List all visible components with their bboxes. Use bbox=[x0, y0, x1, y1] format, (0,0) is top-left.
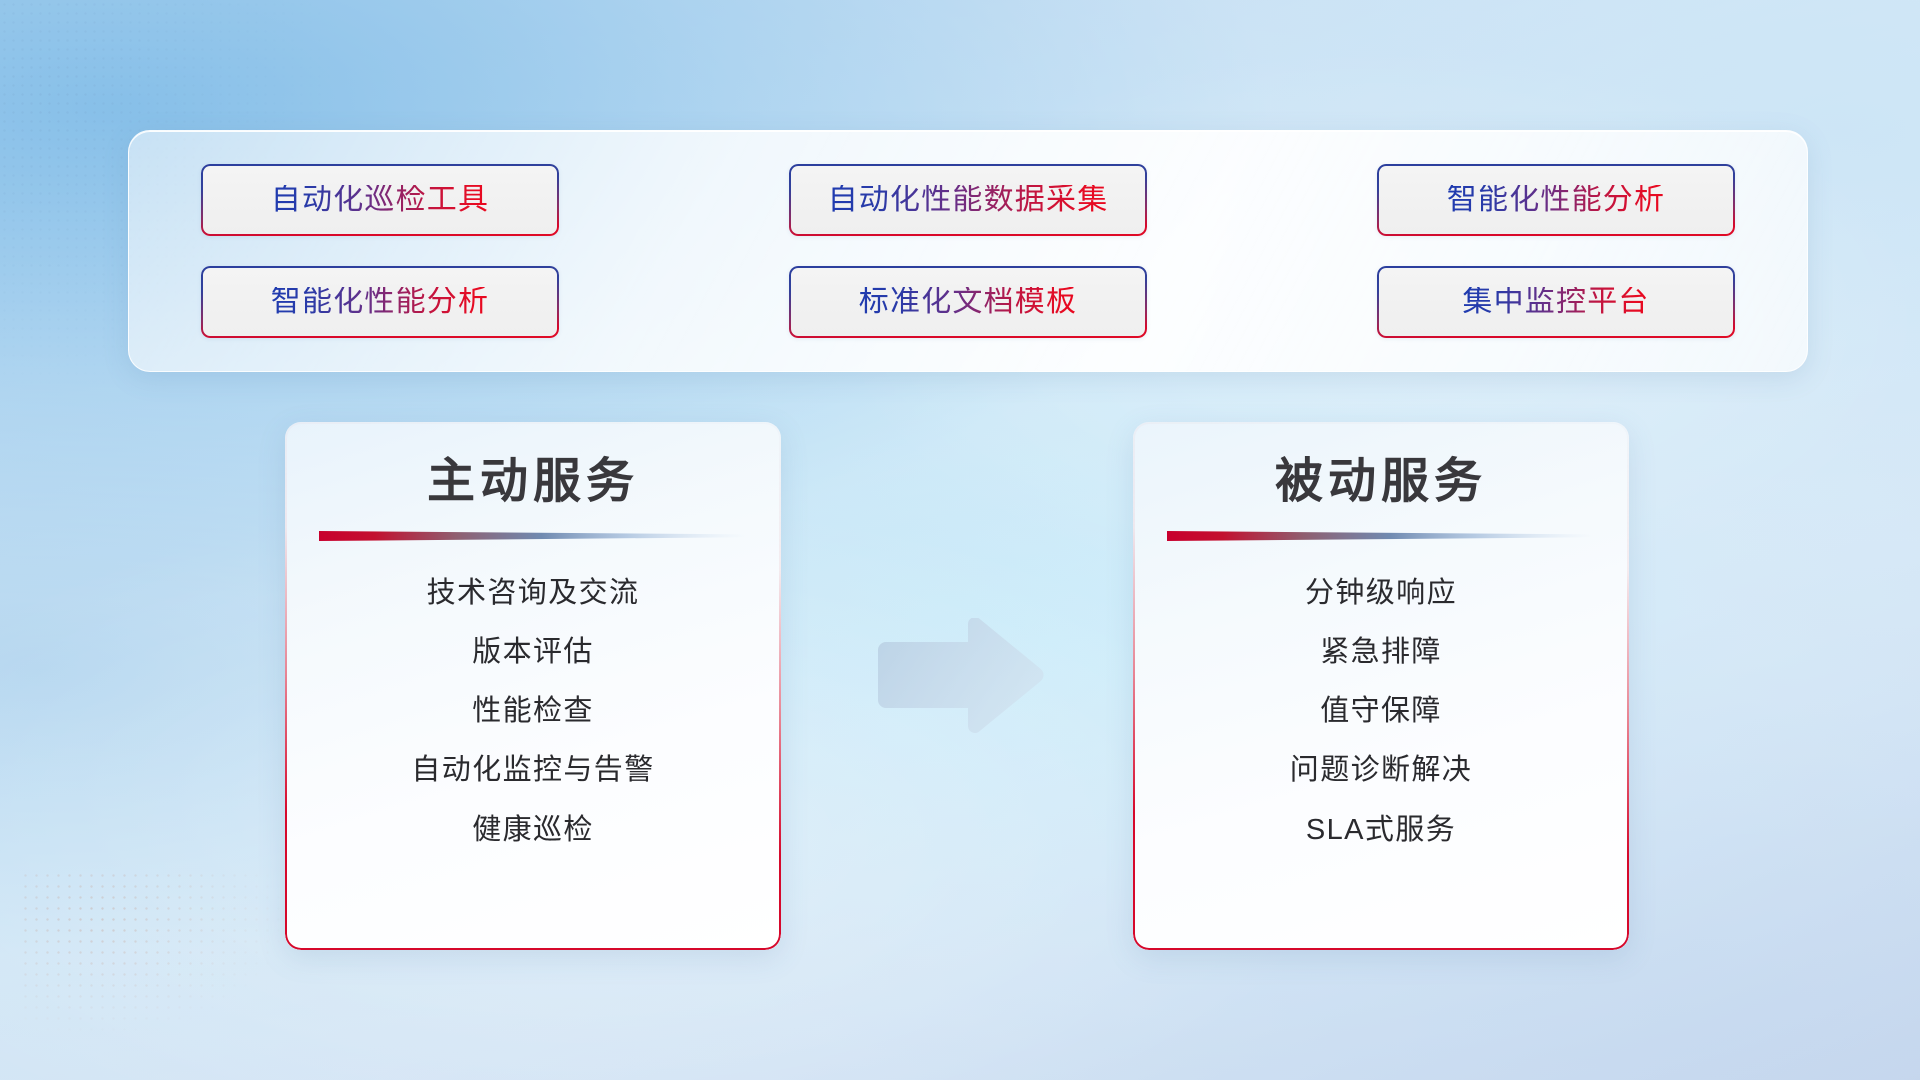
card-divider-reactive bbox=[1167, 529, 1595, 541]
list-item: 紧急排障 bbox=[1320, 634, 1442, 670]
service-list-reactive: 分钟级响应 紧急排障 值守保障 问题诊断解决 SLA式服务 bbox=[1133, 575, 1629, 848]
list-item: SLA式服务 bbox=[1306, 812, 1456, 848]
chip-label: 智能化性能分析 bbox=[1447, 185, 1665, 215]
list-item: 健康巡检 bbox=[472, 812, 594, 848]
capability-row-1: 自动化巡检工具 自动化性能数据采集 智能化性能分析 bbox=[201, 164, 1735, 236]
chip-label: 标准化文档模板 bbox=[859, 287, 1077, 317]
card-title-proactive: 主动服务 bbox=[285, 454, 781, 511]
list-item: 值守保障 bbox=[1320, 693, 1442, 729]
card-title-reactive: 被动服务 bbox=[1133, 454, 1629, 511]
capability-chip-intelligent-perf-analysis[interactable]: 智能化性能分析 bbox=[1377, 164, 1735, 236]
list-item: 性能检查 bbox=[472, 693, 594, 729]
capability-chip-auto-perf-data-collection[interactable]: 自动化性能数据采集 bbox=[789, 164, 1147, 236]
capability-chip-central-monitoring-platform[interactable]: 集中监控平台 bbox=[1377, 266, 1735, 338]
chip-surface: 自动化性能数据采集 bbox=[791, 166, 1145, 234]
chip-label: 自动化性能数据采集 bbox=[828, 185, 1109, 215]
capability-chip-auto-inspection-tool[interactable]: 自动化巡检工具 bbox=[201, 164, 559, 236]
chip-surface: 标准化文档模板 bbox=[791, 268, 1145, 336]
service-list-proactive: 技术咨询及交流 版本评估 性能检查 自动化监控与告警 健康巡检 bbox=[285, 575, 781, 848]
list-item: 分钟级响应 bbox=[1305, 575, 1457, 611]
card-divider-proactive bbox=[319, 529, 747, 541]
chip-label: 集中监控平台 bbox=[1462, 287, 1649, 317]
capability-chip-intelligent-perf-analysis-2[interactable]: 智能化性能分析 bbox=[201, 266, 559, 338]
list-item: 自动化监控与告警 bbox=[411, 752, 654, 788]
capability-row-2: 智能化性能分析 标准化文档模板 集中监控平台 bbox=[201, 266, 1735, 338]
service-card-proactive: 主动服务 技术咨询及交流 版本评估 性能检查 自动化监控与告警 健康巡检 bbox=[285, 422, 781, 950]
chip-surface: 智能化性能分析 bbox=[1379, 166, 1733, 234]
list-item: 技术咨询及交流 bbox=[427, 575, 640, 611]
chip-surface: 集中监控平台 bbox=[1379, 268, 1733, 336]
list-item: 版本评估 bbox=[472, 634, 594, 670]
chip-label: 自动化巡检工具 bbox=[271, 185, 489, 215]
capability-chip-standard-doc-template[interactable]: 标准化文档模板 bbox=[789, 266, 1147, 338]
service-card-reactive: 被动服务 分钟级响应 紧急排障 值守保障 问题诊断解决 SLA式服务 bbox=[1133, 422, 1629, 950]
list-item: 问题诊断解决 bbox=[1290, 752, 1472, 788]
chip-label: 智能化性能分析 bbox=[271, 287, 489, 317]
capability-panel: 自动化巡检工具 自动化性能数据采集 智能化性能分析 智能化性能分析 标准化文档模… bbox=[128, 130, 1808, 372]
chip-surface: 智能化性能分析 bbox=[203, 268, 557, 336]
chip-surface: 自动化巡检工具 bbox=[203, 166, 557, 234]
